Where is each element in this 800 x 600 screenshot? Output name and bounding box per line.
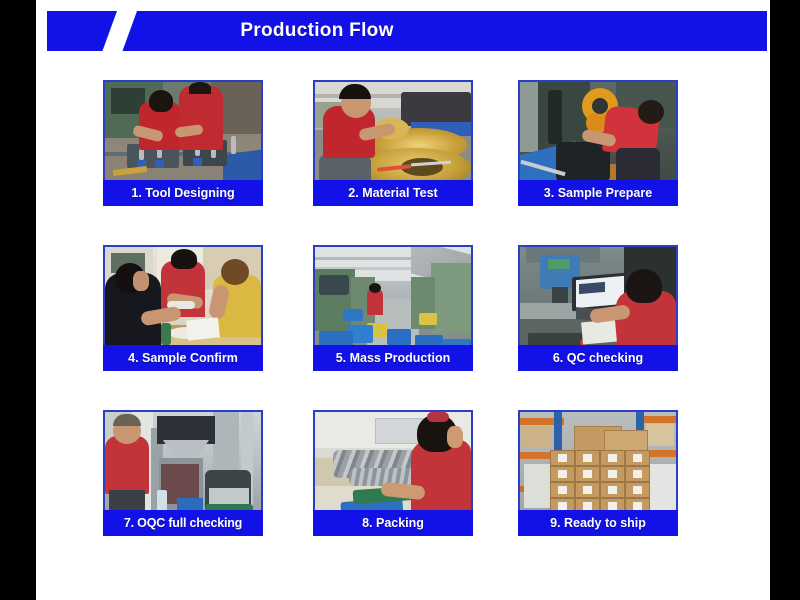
step-card-9[interactable]: 9. Ready to ship — [518, 410, 678, 532]
step-card-7[interactable]: 7. OQC full checking — [103, 410, 263, 532]
step-caption-3: 3. Sample Prepare — [518, 180, 678, 206]
step-caption-5: 5. Mass Production — [313, 345, 473, 371]
step-card-8[interactable]: 8. Packing — [313, 410, 473, 532]
step-caption-9: 9. Ready to ship — [518, 510, 678, 536]
step-caption-4: 4. Sample Confirm — [103, 345, 263, 371]
step-card-1[interactable]: 1. Tool Designing — [103, 80, 263, 202]
slide-canvas: Production Flow — [36, 0, 770, 600]
step-card-5[interactable]: 5. Mass Production — [313, 245, 473, 367]
step-caption-8: 8. Packing — [313, 510, 473, 536]
step-card-6[interactable]: 6. QC checking — [518, 245, 678, 367]
step-caption-7: 7. OQC full checking — [103, 510, 263, 536]
letterbox-right — [770, 0, 800, 600]
step-caption-2: 2. Material Test — [313, 180, 473, 206]
step-caption-1: 1. Tool Designing — [103, 180, 263, 206]
header-banner: Production Flow — [47, 11, 767, 51]
step-card-4[interactable]: 4. Sample Confirm — [103, 245, 263, 367]
step-caption-6: 6. QC checking — [518, 345, 678, 371]
slide-stage: Production Flow — [0, 0, 800, 600]
step-card-2[interactable]: 2. Material Test — [313, 80, 473, 202]
page-title: Production Flow — [47, 11, 767, 51]
step-card-3[interactable]: 3. Sample Prepare — [518, 80, 678, 202]
letterbox-left — [0, 0, 36, 600]
production-flow-grid: 1. Tool Designing — [100, 80, 740, 580]
